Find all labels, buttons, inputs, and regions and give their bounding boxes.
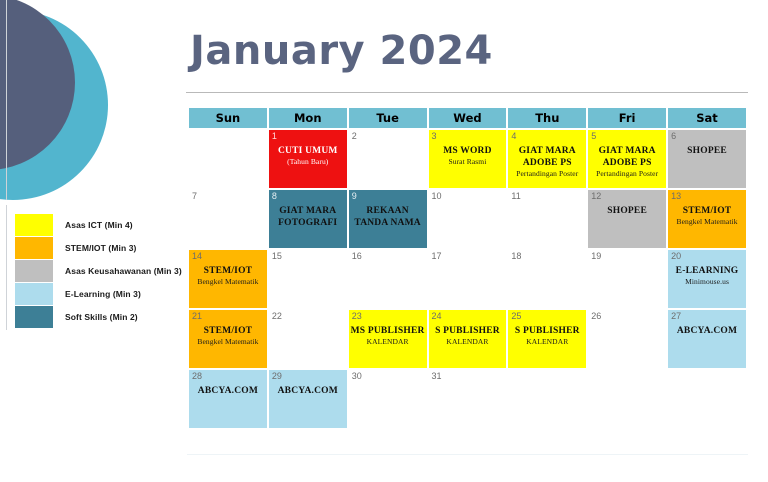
event-title: S PUBLISHER [508, 325, 586, 337]
calendar-day-cell[interactable]: 18 [508, 250, 586, 308]
legend-item: E-Learning (Min 3) [15, 282, 182, 305]
legend-item: STEM/IOT (Min 3) [15, 236, 182, 259]
event-subtitle: Bengkel Matematik [668, 217, 746, 227]
event-subtitle: Surat Rasmi [429, 157, 507, 167]
event-block[interactable]: REKAAN TANDA NAMA [349, 190, 427, 229]
calendar-week-row: 78GIAT MARA FOTOGRAFI9REKAAN TANDA NAMA1… [189, 190, 746, 248]
calendar-day-cell[interactable]: 10 [429, 190, 507, 248]
calendar-header-row: SunMonTueWedThuFriSat [189, 108, 746, 128]
day-number: 15 [272, 251, 282, 262]
day-number: 25 [511, 311, 521, 322]
event-title: CUTI UMUM [269, 145, 347, 157]
left-margin-rule [6, 0, 7, 200]
legend: Asas ICT (Min 4)STEM/IOT (Min 3)Asas Keu… [0, 205, 180, 330]
legend-item-label: STEM/IOT (Min 3) [65, 243, 136, 253]
day-number: 4 [511, 131, 516, 142]
teal-circle-decoration [0, 10, 108, 200]
calendar-day-cell[interactable]: 21STEM/IOTBengkel Matematik [189, 310, 267, 368]
event-subtitle: Bengkel Matematik [189, 277, 267, 287]
calendar-day-cell[interactable]: 12SHOPEE [588, 190, 666, 248]
event-title: GIAT MARA ADOBE PS [508, 145, 586, 169]
calendar-day-cell[interactable]: 4GIAT MARA ADOBE PSPertandingan Poster [508, 130, 586, 188]
legend-item-label: Soft Skills (Min 2) [65, 312, 138, 322]
calendar-day-cell[interactable]: 2 [349, 130, 427, 188]
day-number: 21 [192, 311, 202, 322]
event-title: SHOPEE [668, 145, 746, 157]
day-number: 18 [511, 251, 521, 262]
calendar-weekday-sat: Sat [668, 108, 746, 128]
event-subtitle: Minimouse.us [668, 277, 746, 287]
day-number: 2 [352, 131, 357, 142]
legend-item: Soft Skills (Min 2) [15, 305, 182, 328]
calendar-day-cell[interactable]: 16 [349, 250, 427, 308]
calendar-day-cell[interactable]: 19 [588, 250, 666, 308]
calendar-day-cell[interactable]: 1CUTI UMUM(Tahun Baru) [269, 130, 347, 188]
page-title: January 2024 [190, 28, 493, 74]
event-block[interactable]: GIAT MARA FOTOGRAFI [269, 190, 347, 229]
legend-margin-rule [6, 205, 7, 330]
calendar-day-cell[interactable]: 26 [588, 310, 666, 368]
calendar-weekday-tue: Tue [349, 108, 427, 128]
day-number: 6 [671, 131, 676, 142]
legend-color-swatch [15, 214, 53, 236]
legend-list: Asas ICT (Min 4)STEM/IOT (Min 3)Asas Keu… [15, 213, 182, 328]
calendar-day-cell[interactable]: 28ABCYA.COM [189, 370, 267, 428]
event-subtitle: KALENDAR [349, 337, 427, 347]
event-block[interactable]: GIAT MARA ADOBE PSPertandingan Poster [588, 130, 666, 179]
day-number: 28 [192, 371, 202, 382]
calendar-day-cell[interactable]: 25S PUBLISHERKALENDAR [508, 310, 586, 368]
event-title: MS WORD [429, 145, 507, 157]
day-number: 19 [591, 251, 601, 262]
day-number: 14 [192, 251, 202, 262]
event-title: GIAT MARA ADOBE PS [588, 145, 666, 169]
calendar-day-cell[interactable]: 7 [189, 190, 267, 248]
calendar-day-cell[interactable]: 30 [349, 370, 427, 428]
event-title: STEM/IOT [668, 205, 746, 217]
calendar-empty-cell [508, 370, 586, 428]
calendar-weekday-thu: Thu [508, 108, 586, 128]
event-subtitle: (Tahun Baru) [269, 157, 347, 167]
day-number: 23 [352, 311, 362, 322]
legend-item-label: Asas ICT (Min 4) [65, 220, 133, 230]
calendar-day-cell[interactable]: 27ABCYA.COM [668, 310, 746, 368]
legend-item-label: E-Learning (Min 3) [65, 289, 141, 299]
calendar-week-row: 14STEM/IOTBengkel Matematik151617181920E… [189, 250, 746, 308]
calendar-week-row: 21STEM/IOTBengkel Matematik2223MS PUBLIS… [189, 310, 746, 368]
event-subtitle: Pertandingan Poster [508, 169, 586, 179]
day-number: 22 [272, 311, 282, 322]
calendar-day-cell[interactable]: 14STEM/IOTBengkel Matematik [189, 250, 267, 308]
day-number: 5 [591, 131, 596, 142]
calendar-baseline [187, 454, 748, 455]
day-number: 10 [432, 191, 442, 202]
title-divider [186, 92, 748, 93]
event-title: GIAT MARA FOTOGRAFI [269, 205, 347, 229]
event-subtitle: KALENDAR [429, 337, 507, 347]
slate-circle-decoration [0, 0, 75, 170]
day-number: 30 [352, 371, 362, 382]
event-title: S PUBLISHER [429, 325, 507, 337]
calendar-day-cell[interactable]: 17 [429, 250, 507, 308]
day-number: 24 [432, 311, 442, 322]
legend-color-swatch [15, 260, 53, 282]
legend-item: Asas ICT (Min 4) [15, 213, 182, 236]
calendar-day-cell[interactable]: 22 [269, 310, 347, 368]
calendar-day-cell[interactable]: 9REKAAN TANDA NAMA [349, 190, 427, 248]
day-number: 29 [272, 371, 282, 382]
day-number: 8 [272, 191, 277, 202]
calendar-day-cell[interactable]: 20E-LEARNINGMinimouse.us [668, 250, 746, 308]
calendar-weekday-wed: Wed [429, 108, 507, 128]
calendar-grid: SunMonTueWedThuFriSat 1CUTI UMUM(Tahun B… [187, 106, 748, 430]
event-title: REKAAN TANDA NAMA [349, 205, 427, 229]
legend-color-swatch [15, 237, 53, 259]
calendar-day-cell[interactable]: 15 [269, 250, 347, 308]
calendar-week-row: 1CUTI UMUM(Tahun Baru)23MS WORDSurat Ras… [189, 130, 746, 188]
day-number: 20 [671, 251, 681, 262]
event-block[interactable]: MS WORDSurat Rasmi [429, 130, 507, 167]
event-subtitle: Bengkel Matematik [189, 337, 267, 347]
calendar-day-cell[interactable]: 13STEM/IOTBengkel Matematik [668, 190, 746, 248]
event-title: ABCYA.COM [668, 325, 746, 337]
event-title: ABCYA.COM [269, 385, 347, 397]
day-number: 9 [352, 191, 357, 202]
day-number: 12 [591, 191, 601, 202]
calendar-day-cell[interactable]: 8GIAT MARA FOTOGRAFI [269, 190, 347, 248]
legend-color-swatch [15, 306, 53, 328]
event-title: E-LEARNING [668, 265, 746, 277]
event-title: ABCYA.COM [189, 385, 267, 397]
calendar-day-cell[interactable]: 11 [508, 190, 586, 248]
calendar-empty-cell [588, 370, 666, 428]
calendar-week-row: 28ABCYA.COM29ABCYA.COM3031 [189, 370, 746, 428]
event-block[interactable]: GIAT MARA ADOBE PSPertandingan Poster [508, 130, 586, 179]
calendar-day-cell[interactable]: 23MS PUBLISHERKALENDAR [349, 310, 427, 368]
event-title: MS PUBLISHER [349, 325, 427, 337]
event-subtitle: KALENDAR [508, 337, 586, 347]
day-number: 27 [671, 311, 681, 322]
decorative-circles [0, 0, 135, 200]
day-number: 13 [671, 191, 681, 202]
calendar-day-cell[interactable]: 24S PUBLISHERKALENDAR [429, 310, 507, 368]
event-block[interactable]: CUTI UMUM(Tahun Baru) [269, 130, 347, 167]
calendar-empty-cell [189, 130, 267, 188]
day-number: 26 [591, 311, 601, 322]
day-number: 3 [432, 131, 437, 142]
day-number: 17 [432, 251, 442, 262]
calendar-body: 1CUTI UMUM(Tahun Baru)23MS WORDSurat Ras… [189, 130, 746, 428]
calendar-day-cell[interactable]: 29ABCYA.COM [269, 370, 347, 428]
event-title: STEM/IOT [189, 325, 267, 337]
calendar-weekday-fri: Fri [588, 108, 666, 128]
event-subtitle: Pertandingan Poster [588, 169, 666, 179]
day-number: 31 [432, 371, 442, 382]
day-number: 11 [511, 191, 520, 202]
day-number: 16 [352, 251, 362, 262]
day-number: 7 [192, 191, 197, 202]
calendar-weekday-sun: Sun [189, 108, 267, 128]
calendar-day-cell[interactable]: 5GIAT MARA ADOBE PSPertandingan Poster [588, 130, 666, 188]
legend-color-swatch [15, 283, 53, 305]
legend-item: Asas Keusahawanan (Min 3) [15, 259, 182, 282]
event-title: SHOPEE [588, 205, 666, 217]
legend-item-label: Asas Keusahawanan (Min 3) [65, 266, 182, 276]
calendar-day-cell[interactable]: 3MS WORDSurat Rasmi [429, 130, 507, 188]
calendar-empty-cell [668, 370, 746, 428]
day-number: 1 [272, 131, 277, 142]
event-block[interactable]: SHOPEE [668, 130, 746, 157]
calendar-weekday-mon: Mon [269, 108, 347, 128]
event-title: STEM/IOT [189, 265, 267, 277]
calendar-day-cell[interactable]: 31 [429, 370, 507, 428]
calendar-day-cell[interactable]: 6SHOPEE [668, 130, 746, 188]
